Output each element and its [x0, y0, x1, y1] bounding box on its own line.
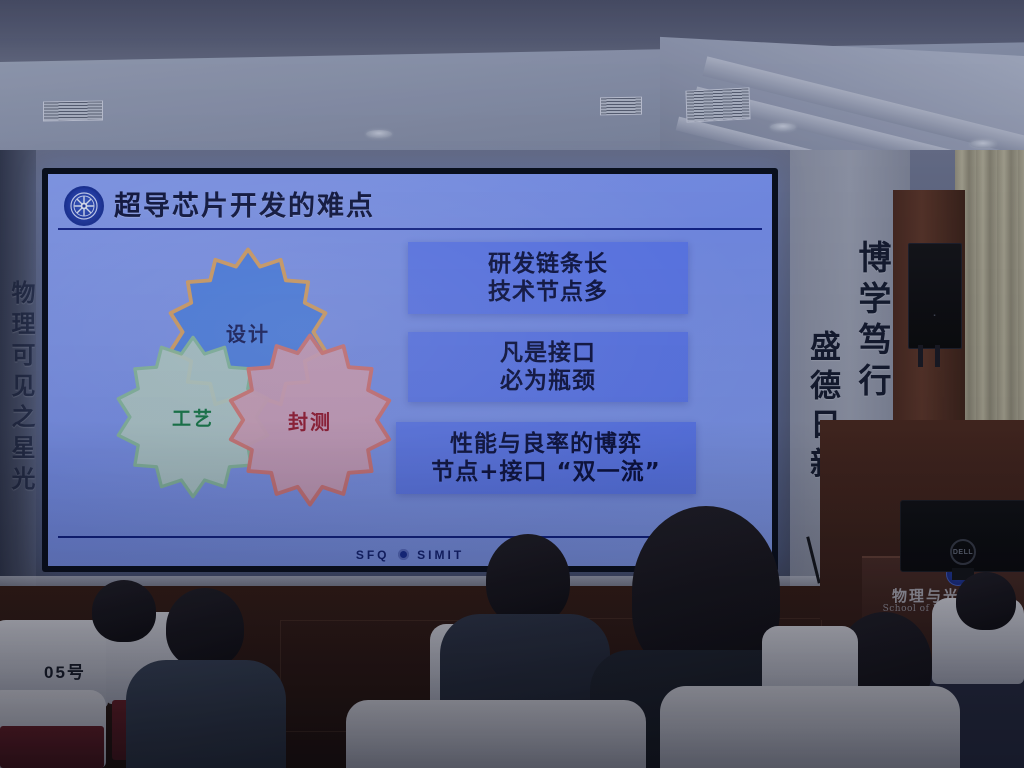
slide-title: 超导芯片开发的难点	[114, 184, 375, 223]
slide-footer-right: SIMIT	[417, 548, 464, 562]
seat-number-label: 05号	[44, 658, 86, 683]
wall-speaker-icon: ▪	[908, 243, 962, 349]
callout-1-line-1: 研发链条长	[488, 250, 608, 278]
ceiling-vent-icon	[600, 97, 642, 116]
audience-head	[166, 588, 244, 668]
ceiling-downlight-icon	[366, 130, 392, 138]
circle-dot-icon	[398, 549, 409, 560]
title-divider	[58, 228, 762, 230]
slide-footer-left: SFQ	[356, 548, 390, 562]
dell-monitor[interactable]: DELL	[900, 500, 1024, 572]
speaker-bracket	[935, 345, 940, 367]
callout-1-line-2: 技术节点多	[488, 278, 608, 306]
simit-institute-logo-icon	[64, 186, 104, 226]
ceiling-vent-icon	[43, 100, 103, 121]
gear-packaging-test: 封测	[222, 332, 398, 508]
speaker-bracket	[918, 345, 923, 367]
callout-2-line-1: 凡是接口	[500, 339, 596, 367]
audience-head	[486, 534, 570, 626]
projection-screen: 超导芯片开发的难点 设计 工艺	[48, 174, 772, 566]
callout-box-3: 性能与良率的博弈 节点+接口 “双一流”	[396, 422, 696, 494]
screenshot-root: 博学笃行 盛德日新 物理可见之星光 ▪ 超导芯片开发的难点	[0, 0, 1024, 768]
callout-2-line-2: 必为瓶颈	[500, 367, 596, 395]
audience-head	[956, 572, 1016, 630]
ceiling-downlight-icon	[970, 140, 996, 148]
ceiling-vent-icon	[685, 87, 750, 122]
wall-calligraphy-right-1: 博学笃行	[848, 240, 896, 404]
callout-3-line-2: 节点+接口 “双一流”	[431, 458, 661, 486]
gear-diagram: 设计 工艺 封测	[110, 246, 400, 496]
seat	[660, 686, 960, 768]
ceiling-downlight-icon	[770, 123, 796, 131]
seat-base	[0, 726, 104, 768]
seat	[346, 700, 646, 768]
gear-packaging-test-label: 封测	[222, 332, 398, 508]
dell-logo-icon: DELL	[950, 539, 976, 565]
audience-head	[92, 580, 156, 642]
callout-box-1: 研发链条长 技术节点多	[408, 242, 688, 314]
audience-shoulders	[126, 660, 286, 768]
speaker-brand-label: ▪	[933, 313, 936, 319]
wall-calligraphy-left: 物理可见之星光	[4, 280, 39, 497]
callout-3-line-1: 性能与良率的博弈	[450, 430, 642, 458]
callout-box-2: 凡是接口 必为瓶颈	[408, 332, 688, 402]
